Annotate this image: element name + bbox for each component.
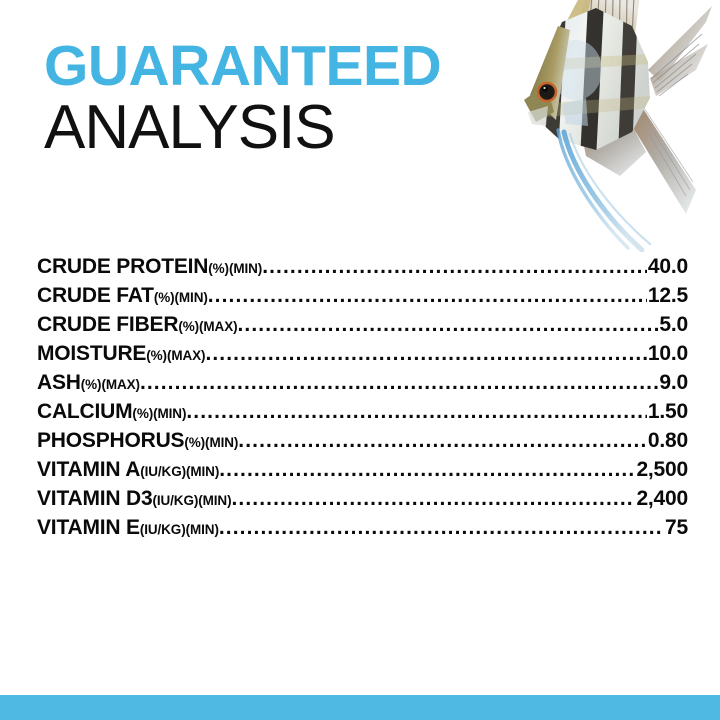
leader-dots: ........................................… bbox=[208, 281, 647, 310]
nutrient-label: VITAMIN E bbox=[37, 513, 140, 542]
nutrient-unit: (%)(MIN) bbox=[208, 254, 262, 281]
analysis-row: VITAMIN D3(IU/KG)(MIN)..................… bbox=[37, 484, 688, 513]
analysis-row: CRUDE FAT(%)(MIN).......................… bbox=[37, 281, 688, 310]
leader-dots: ........................................… bbox=[186, 397, 647, 426]
leader-dots: ........................................… bbox=[262, 252, 647, 281]
nutrient-value: 5.0 bbox=[658, 310, 688, 339]
nutrient-label: CRUDE FIBER bbox=[37, 310, 178, 339]
page-title: GUARANTEED ANALYSIS bbox=[44, 36, 564, 158]
nutrient-unit: (IU/KG)(MIN) bbox=[140, 515, 219, 542]
leader-dots: ........................................… bbox=[238, 426, 647, 455]
guaranteed-analysis-list: CRUDE PROTEIN(%)(MIN)...................… bbox=[37, 252, 688, 542]
nutrient-value: 2,400 bbox=[635, 484, 688, 513]
title-guaranteed: GUARANTEED bbox=[44, 36, 564, 96]
nutrient-unit: (IU/KG)(MIN) bbox=[140, 457, 219, 484]
leader-dots: ........................................… bbox=[219, 455, 635, 484]
nutrient-value: 75 bbox=[664, 513, 688, 542]
analysis-row: CRUDE FIBER(%)(MAX).....................… bbox=[37, 310, 688, 339]
nutrient-unit: (%)(MAX) bbox=[81, 370, 140, 397]
nutrient-unit: (%)(MIN) bbox=[154, 283, 208, 310]
analysis-row: PHOSPHORUS(%)(MIN)......................… bbox=[37, 426, 688, 455]
nutrient-value: 9.0 bbox=[658, 368, 688, 397]
analysis-row: CRUDE PROTEIN(%)(MIN)...................… bbox=[37, 252, 688, 281]
nutrient-unit: (%)(MIN) bbox=[132, 399, 186, 426]
nutrient-label: CRUDE FAT bbox=[37, 281, 154, 310]
leader-dots: ........................................… bbox=[219, 513, 664, 542]
nutrient-label: ASH bbox=[37, 368, 81, 397]
analysis-row: VITAMIN E(IU/KG)(MIN)...................… bbox=[37, 513, 688, 542]
nutrient-label: CALCIUM bbox=[37, 397, 132, 426]
leader-dots: ........................................… bbox=[231, 484, 635, 513]
nutrient-value: 2,500 bbox=[635, 455, 688, 484]
analysis-row: VITAMIN A(IU/KG)(MIN)...................… bbox=[37, 455, 688, 484]
nutrient-value: 0.80 bbox=[647, 426, 688, 455]
nutrient-unit: (%)(MAX) bbox=[146, 341, 205, 368]
nutrient-label: VITAMIN D3 bbox=[37, 484, 152, 513]
nutrient-value: 12.5 bbox=[647, 281, 688, 310]
nutrient-label: VITAMIN A bbox=[37, 455, 140, 484]
analysis-row: CALCIUM(%)(MIN).........................… bbox=[37, 397, 688, 426]
nutrient-label: MOISTURE bbox=[37, 339, 146, 368]
nutrient-value: 40.0 bbox=[647, 252, 688, 281]
nutrient-unit: (%)(MIN) bbox=[184, 428, 238, 455]
nutrient-label: PHOSPHORUS bbox=[37, 426, 184, 455]
nutrient-label: CRUDE PROTEIN bbox=[37, 252, 208, 281]
guaranteed-analysis-panel: GUARANTEED ANALYSIS CRUDE PROTEIN(%)(MIN… bbox=[0, 0, 720, 720]
title-analysis: ANALYSIS bbox=[44, 98, 564, 158]
analysis-row: MOISTURE(%)(MAX)........................… bbox=[37, 339, 688, 368]
nutrient-unit: (IU/KG)(MIN) bbox=[152, 486, 231, 513]
nutrient-unit: (%)(MAX) bbox=[178, 312, 237, 339]
leader-dots: ........................................… bbox=[238, 310, 659, 339]
leader-dots: ........................................… bbox=[140, 368, 658, 397]
analysis-row: ASH(%)(MAX).............................… bbox=[37, 368, 688, 397]
nutrient-value: 10.0 bbox=[647, 339, 688, 368]
leader-dots: ........................................… bbox=[205, 339, 646, 368]
nutrient-value: 1.50 bbox=[647, 397, 688, 426]
footer-accent-bar bbox=[0, 695, 720, 720]
